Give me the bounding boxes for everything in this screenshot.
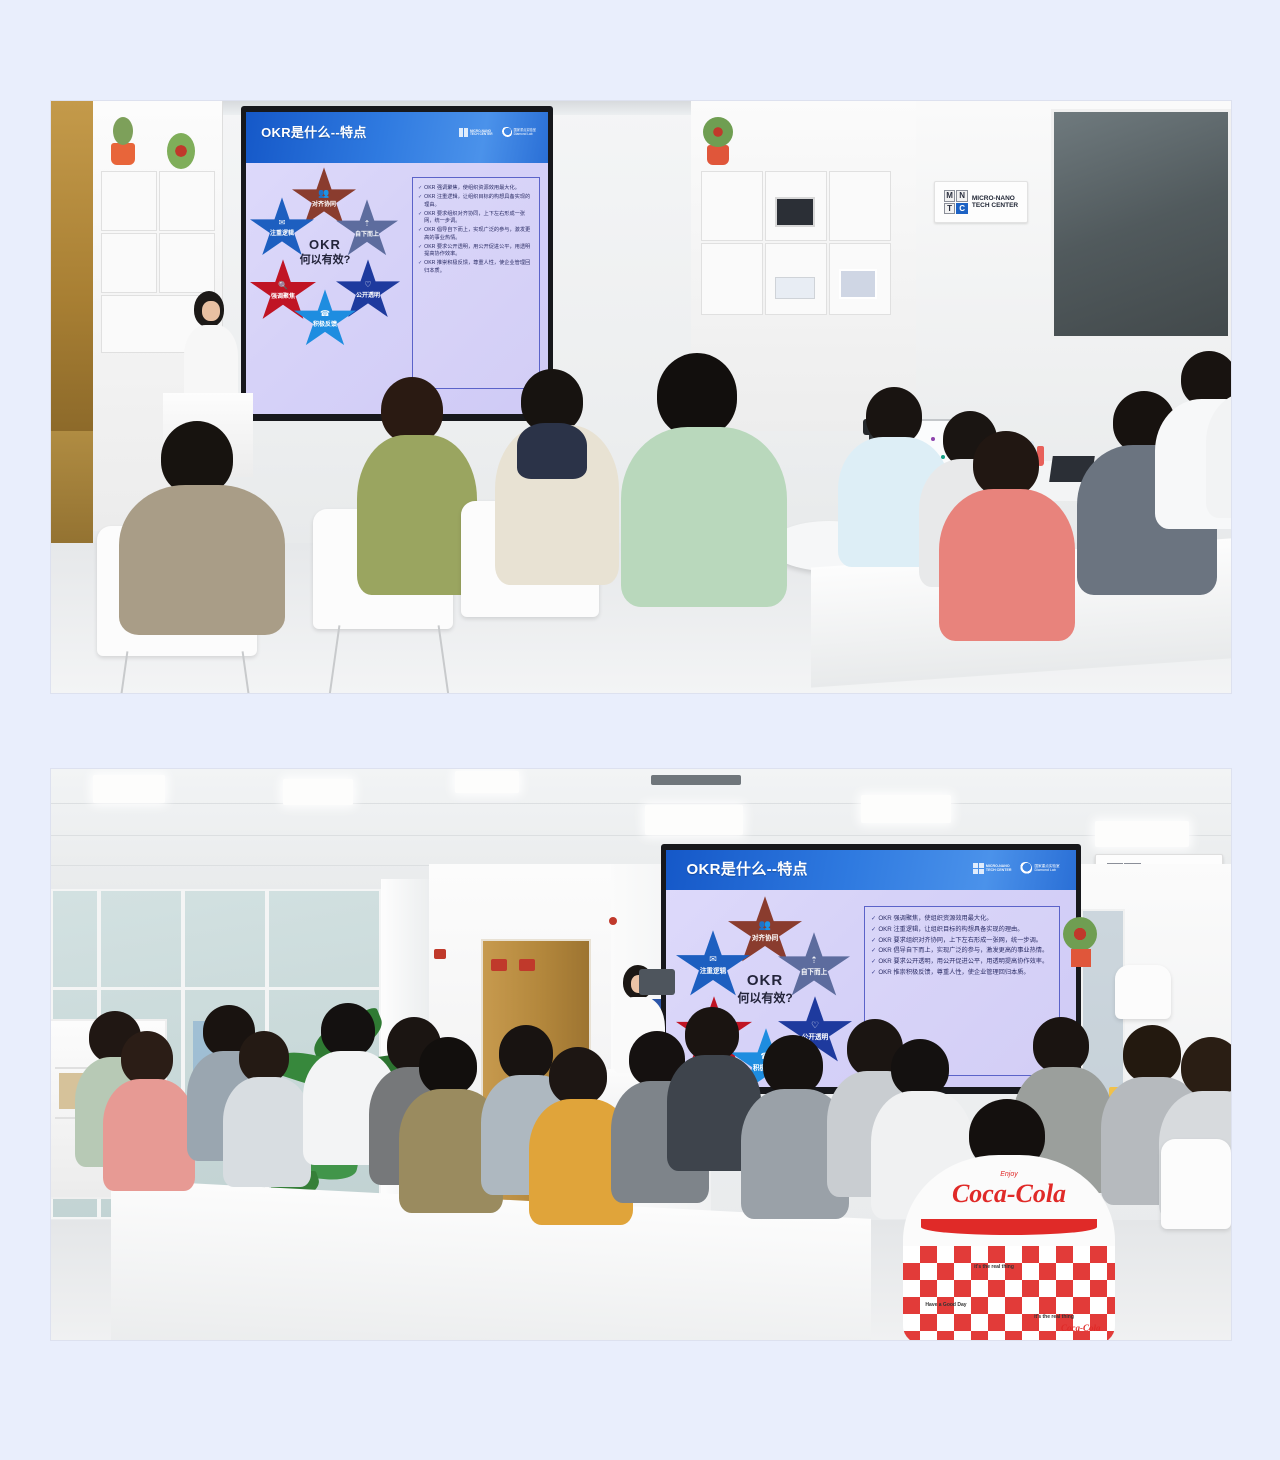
chair [1161,1139,1231,1229]
check-icon: ✓ [418,211,422,226]
center-line-2: 何以有效? [290,254,360,268]
logo-line-2: TECH CENTER [986,869,1012,873]
list-item: ✓OKR 要求公开透明，用公开促进公平，用透明提高协作效率。 [418,244,534,259]
swirl-icon [501,127,512,138]
sign-letter-m: M [944,190,956,202]
micro-nano-tech-center-logo: MICRO-NANO TECH CENTER [973,863,1012,874]
check-icon: ✓ [418,185,422,193]
slide-logos: MICRO-NANO TECH CENTER 国家重点实验室 Diamond L… [459,127,536,138]
star-jijifankui: ☎ 积极反馈 [294,289,356,349]
slide-body: 👥 对齐协同 ✉ 注重逻辑 ⇡ 自下而上 🔍 [246,163,548,414]
diagram-center-label: OKR 何以有效? [724,972,806,1006]
star-label: 注重逻辑 [270,228,294,237]
slide-bullet-list: ✓OKR 强调聚焦，使组织资源效用最大化。 ✓OKR 注重逻辑，让组织目标的构想… [871,915,1053,978]
bullet-text: OKR 要求公开透明，用公开促进公平，用透明提高协作效率。 [424,244,534,259]
wall-display: OKR是什么--特点 MICRO-NANO TECH CENTER [241,106,553,421]
star-label: 强调聚焦 [271,291,295,300]
equipment-cart [639,969,675,995]
shelf-cell [101,171,157,231]
center-line-1: OKR [724,972,806,991]
photo-seminar-wide: OKR是什么--特点 MICRO-NANO TECH CENTER 国家重点实验… [51,769,1231,1340]
check-icon: ✓ [871,958,876,967]
people-icon: 👥 [318,189,329,198]
shelf-cell [159,233,215,293]
list-item: ✓OKR 强调聚焦，使组织资源效用最大化。 [418,185,534,193]
sign-line-2: TECH CENTER [972,202,1018,209]
list-item: ✓OKR 推崇积极反馈，尊重人性，使企业管理回归本质。 [418,260,534,275]
slide-header: OKR是什么--特点 MICRO-NANO TECH CENTER 国家重点实验… [666,850,1076,890]
jacket-brand-text: Coca-Cola [903,1179,1115,1209]
check-icon: ✓ [871,926,876,935]
slide-title: OKR是什么--特点 [261,122,367,141]
search-icon: 🔍 [278,282,288,290]
list-item: ✓OKR 要求公开透明，用公开促进公平，用透明提高协作效率。 [871,958,1053,967]
bullet-text: OKR 倡导自下而上，实现广泛的参与，激发更高的事业热情。 [424,227,534,242]
check-icon: ✓ [418,194,422,209]
arrow-up-icon: ⇡ [364,220,371,228]
list-item: ✓OKR 要求组织对齐协同，上下左右形成一张网，统一步调。 [871,937,1053,946]
ceiling-vent [651,775,741,785]
list-item: ✓OKR 要求组织对齐协同，上下左右形成一张网，统一步调。 [418,211,534,226]
ceiling-light [1095,821,1189,847]
slide-logos: MICRO-NANO TECH CENTER 国家重点实验室 Diamond L… [973,862,1060,875]
bullet-text: OKR 要求组织对齐协同，上下左右形成一张网，统一步调。 [878,937,1042,946]
star-label: 对齐协同 [752,932,778,942]
ceiling-light [861,795,951,823]
magnet [931,437,935,441]
shuang-lab-logo: 国家重点实验室 Diamond Lab [501,127,536,138]
star-label: 公开透明 [356,290,380,299]
logo-line-2: Diamond Lab [514,133,536,137]
star-diagram: 👥 对齐协同 ✉ 注重逻辑 ⇡ 自下而上 🔍 [250,167,402,377]
bullet-text: OKR 强调聚焦，使组织资源效用最大化。 [878,915,992,924]
jacket-wave-stripe [921,1219,1097,1235]
ceiling-light [455,771,519,793]
ceiling-light [93,775,165,803]
list-item: ✓OKR 注重逻辑，让组织目标的构想具备实现的理由。 [418,194,534,209]
jacket-tagline: it's the real thing [969,1265,1019,1270]
check-icon: ✓ [418,244,422,259]
list-item: ✓OKR 倡导自下而上，实现广泛的参与，激发更高的事业热情。 [418,227,534,242]
ceiling-light [283,779,353,805]
list-item: ✓OKR 强调聚焦，使组织资源效用最大化。 [871,915,1053,924]
chair [1115,965,1171,1019]
list-item: ✓OKR 注重逻辑，让组织目标的构想具备实现的理由。 [871,926,1053,935]
center-line-1: OKR [290,237,360,253]
check-icon: ✓ [418,260,422,275]
sign-line-1: MICRO-NANO [972,195,1018,202]
list-item: ✓OKR 倡导自下而上，实现广泛的参与，激发更高的事业热情。 [871,947,1053,956]
bullet-text: OKR 推崇积极反馈，尊重人性，使企业管理回归本质。 [424,260,534,275]
bullet-text: OKR 倡导自下而上，实现广泛的参与，激发更高的事业热情。 [878,947,1048,956]
check-icon: ✓ [871,947,876,956]
check-icon: ✓ [871,915,876,924]
micro-nano-tech-center-logo: MICRO-NANO TECH CENTER [459,128,493,137]
jacket-brand-small: Coca-Cola [903,1259,941,1269]
slide-screen: OKR是什么--特点 MICRO-NANO TECH CENTER [246,112,548,414]
scarf [517,423,587,479]
logo-line-2: TECH CENTER [470,133,493,136]
check-icon: ✓ [871,937,876,946]
shuang-lab-logo: 国家重点实验室 Diamond Lab [1019,862,1059,875]
window-dark [1051,109,1231,339]
bullet-text: OKR 要求组织对齐协同，上下左右形成一张网，统一步调。 [424,211,534,226]
emergency-sign [434,949,446,959]
envelope-icon: ✉ [709,955,717,964]
sign-letter-c: C [956,203,968,215]
heart-icon: ♡ [364,281,371,289]
jacket-tagline: Have a Good Day [921,1303,971,1308]
star-label: 注重逻辑 [700,965,726,975]
document-stack [775,277,815,299]
shelf-cell [101,233,157,293]
plant-pot [1071,949,1091,967]
sign-letter-n: N [956,190,968,202]
wall-sign-micro-nano: M N T C MICRO-NANO TECH CENTER [934,181,1028,223]
slide-title: OKR是什么--特点 [687,858,808,879]
plant-foliage [113,117,133,145]
arrow-up-icon: ⇡ [810,956,818,965]
plant-flowers [167,133,195,169]
jacket-tagline: it's the real thing [1029,1315,1079,1320]
phone-icon: ☎ [320,310,330,318]
people-icon: 👥 [759,921,771,931]
jacket-enjoy-text: Enjoy [903,1171,1115,1178]
bullet-text: OKR 注重逻辑，让组织目标的构想具备实现的理由。 [878,926,1023,935]
sign-letter-t: T [944,203,956,215]
smoke-detector [609,917,617,925]
shelf-cell [701,171,763,241]
plant-pot [111,143,135,165]
shelf-cell [829,171,891,241]
diagram-center-label: OKR 何以有效? [290,237,360,267]
check-icon: ✓ [418,227,422,242]
emergency-sign [491,959,507,971]
jacket-brand-small: Coca-Cola [1061,1323,1115,1333]
photo-seminar-closeup: OKR是什么--特点 MICRO-NANO TECH CENTER [51,101,1231,693]
center-line-2: 何以有效? [724,991,806,1006]
framed-picture [775,197,815,227]
slide-bullet-list: ✓OKR 强调聚焦，使组织资源效用最大化。 ✓OKR 注重逻辑，让组织目标的构想… [418,185,534,275]
list-item: ✓OKR 推崇积极反馈，尊重人性，使企业管理回归本质。 [871,969,1053,978]
star-label: 积极反馈 [313,319,337,328]
shelf-cell [701,243,763,315]
plant-flowers [1063,917,1097,951]
wood-panel-left [51,101,93,431]
envelope-icon: ✉ [279,219,286,227]
heart-icon: ♡ [811,1021,819,1030]
ceiling-light [645,805,743,835]
plant-flowers [703,117,733,147]
star-label: 对齐协同 [312,199,336,208]
framed-picture [839,269,877,299]
bullet-text: OKR 要求公开透明，用公开促进公平，用透明提高协作效率。 [878,958,1048,967]
coca-cola-jacket: Enjoy Coca-Cola it's the real thing Have… [903,1155,1115,1340]
bullet-text: OKR 注重逻辑，让组织目标的构想具备实现的理由。 [424,194,534,209]
shelf-cell [159,171,215,231]
slide-bullet-panel: ✓OKR 强调聚焦，使组织资源效用最大化。 ✓OKR 注重逻辑，让组织目标的构想… [412,177,540,389]
swirl-icon [1019,862,1032,875]
plant-pot [707,145,729,165]
check-icon: ✓ [871,969,876,978]
bullet-text: OKR 强调聚焦，使组织资源效用最大化。 [424,185,520,193]
bullet-text: OKR 推崇积极反馈，尊重人性，使企业管理回归本质。 [878,969,1029,978]
slide-header: OKR是什么--特点 MICRO-NANO TECH CENTER [246,112,548,163]
logo-line-2: Diamond Lab [1034,869,1059,873]
emergency-sign [519,959,535,971]
